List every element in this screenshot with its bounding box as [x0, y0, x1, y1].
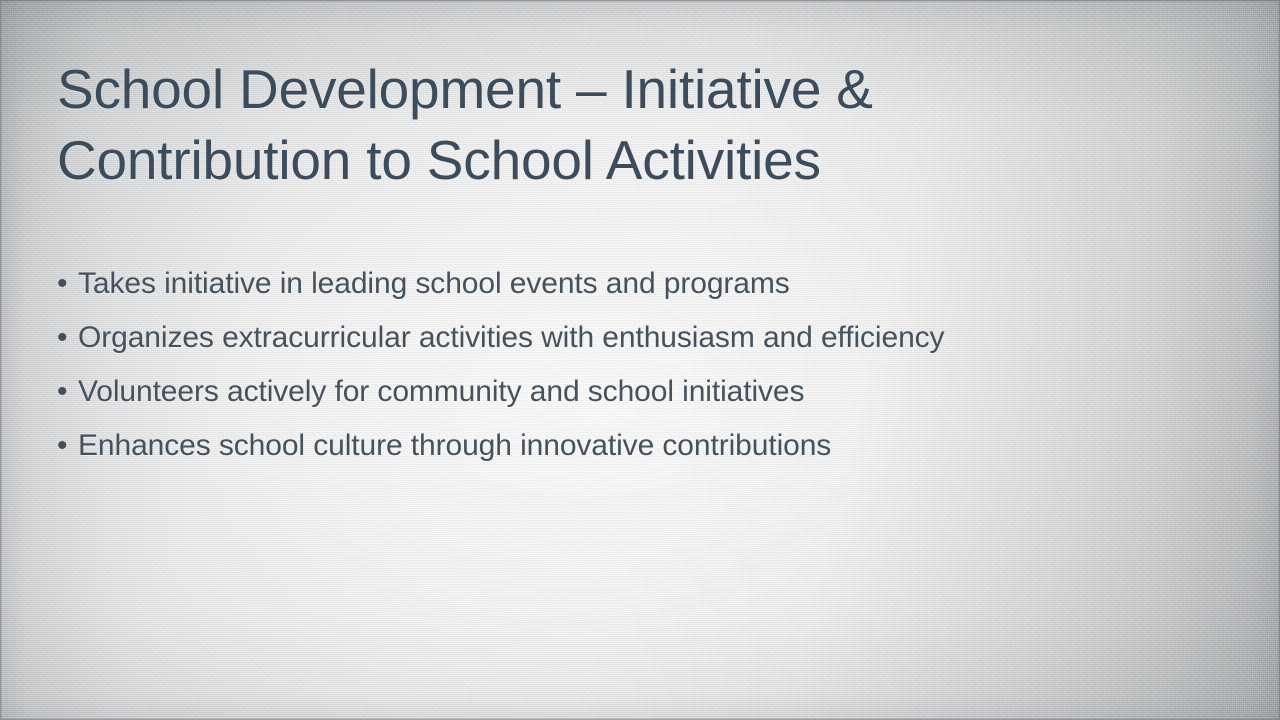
slide-content: School Development – Initiative & Contri… [0, 0, 1280, 720]
bullet-list-item-text: Enhances school culture through innovati… [78, 426, 831, 466]
bullet-list-item-text: Volunteers actively for community and sc… [78, 372, 804, 412]
bullet-point-icon: • [57, 264, 78, 304]
bullet-list-item: • Enhances school culture through innova… [57, 426, 1127, 480]
bullet-list-item-text: Takes initiative in leading school event… [78, 264, 790, 304]
bullet-point-icon: • [57, 426, 78, 466]
bullet-list-item: • Organizes extracurricular activities w… [57, 318, 1127, 372]
bullet-point-icon: • [57, 318, 78, 358]
slide-title-line-2: Contribution to School Activities [57, 125, 1017, 196]
presentation-slide: School Development – Initiative & Contri… [0, 0, 1280, 720]
bullet-list-item: • Volunteers actively for community and … [57, 372, 1127, 426]
bullet-point-icon: • [57, 372, 78, 412]
bullet-list-item-text: Organizes extracurricular activities wit… [78, 318, 944, 358]
bullet-list-item: • Takes initiative in leading school eve… [57, 264, 1127, 318]
slide-bullet-list: • Takes initiative in leading school eve… [57, 264, 1127, 480]
slide-title: School Development – Initiative & Contri… [57, 54, 1017, 196]
slide-title-line-1: School Development – Initiative & [57, 54, 1017, 125]
